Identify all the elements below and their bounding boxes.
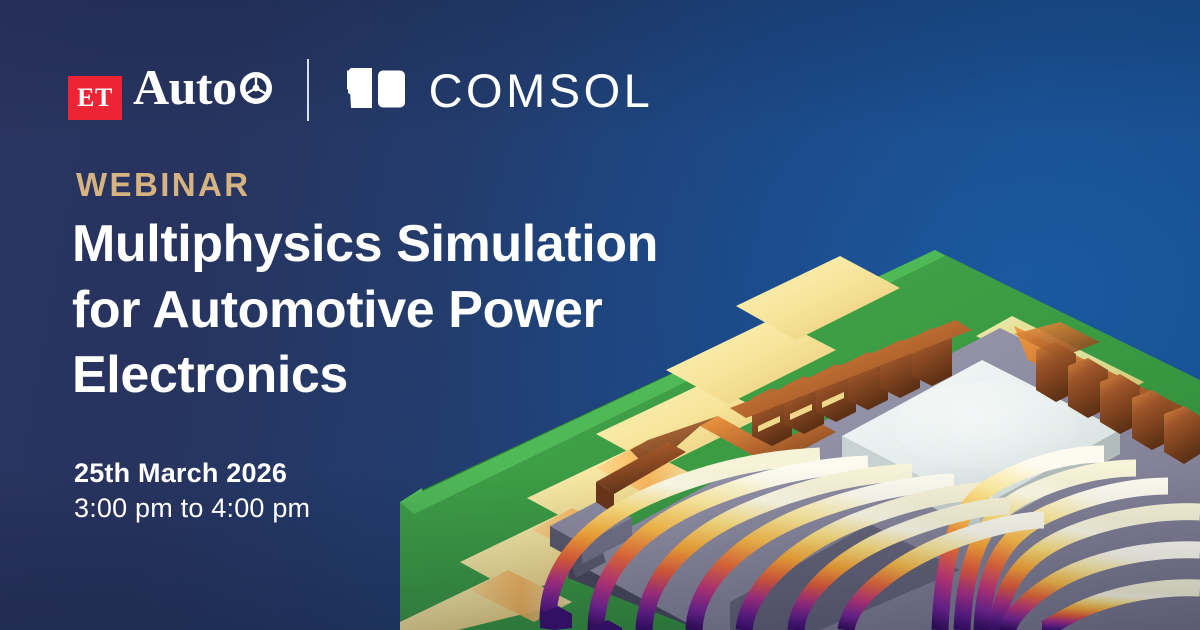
comsol-wordmark: COMSOL bbox=[429, 67, 654, 114]
title-line-1: Multiphysics Simulation bbox=[72, 212, 772, 278]
auto-wordmark: Auto bbox=[133, 62, 237, 112]
event-date: 25th March 2026 bbox=[74, 456, 310, 491]
comsol-mark-icon bbox=[347, 67, 409, 114]
comsol-logo[interactable]: COMSOL bbox=[347, 67, 654, 114]
logo-divider bbox=[307, 59, 309, 121]
auto-wordmark-text: Auto bbox=[133, 59, 237, 115]
title-line-2: for Automotive Power bbox=[72, 278, 772, 344]
tire-wheel-icon bbox=[239, 71, 273, 105]
page-title: Multiphysics Simulation for Automotive P… bbox=[72, 212, 772, 409]
event-time: 3:00 pm to 4:00 pm bbox=[74, 491, 310, 526]
webinar-promo-banner: ET Auto bbox=[0, 0, 1200, 630]
eyebrow-label: WEBINAR bbox=[76, 168, 250, 201]
title-line-3: Electronics bbox=[72, 343, 772, 409]
etauto-logo[interactable]: ET Auto bbox=[68, 62, 273, 118]
logo-bar: ET Auto bbox=[68, 58, 653, 122]
event-schedule: 25th March 2026 3:00 pm to 4:00 pm bbox=[74, 456, 310, 525]
et-badge: ET bbox=[68, 76, 122, 120]
